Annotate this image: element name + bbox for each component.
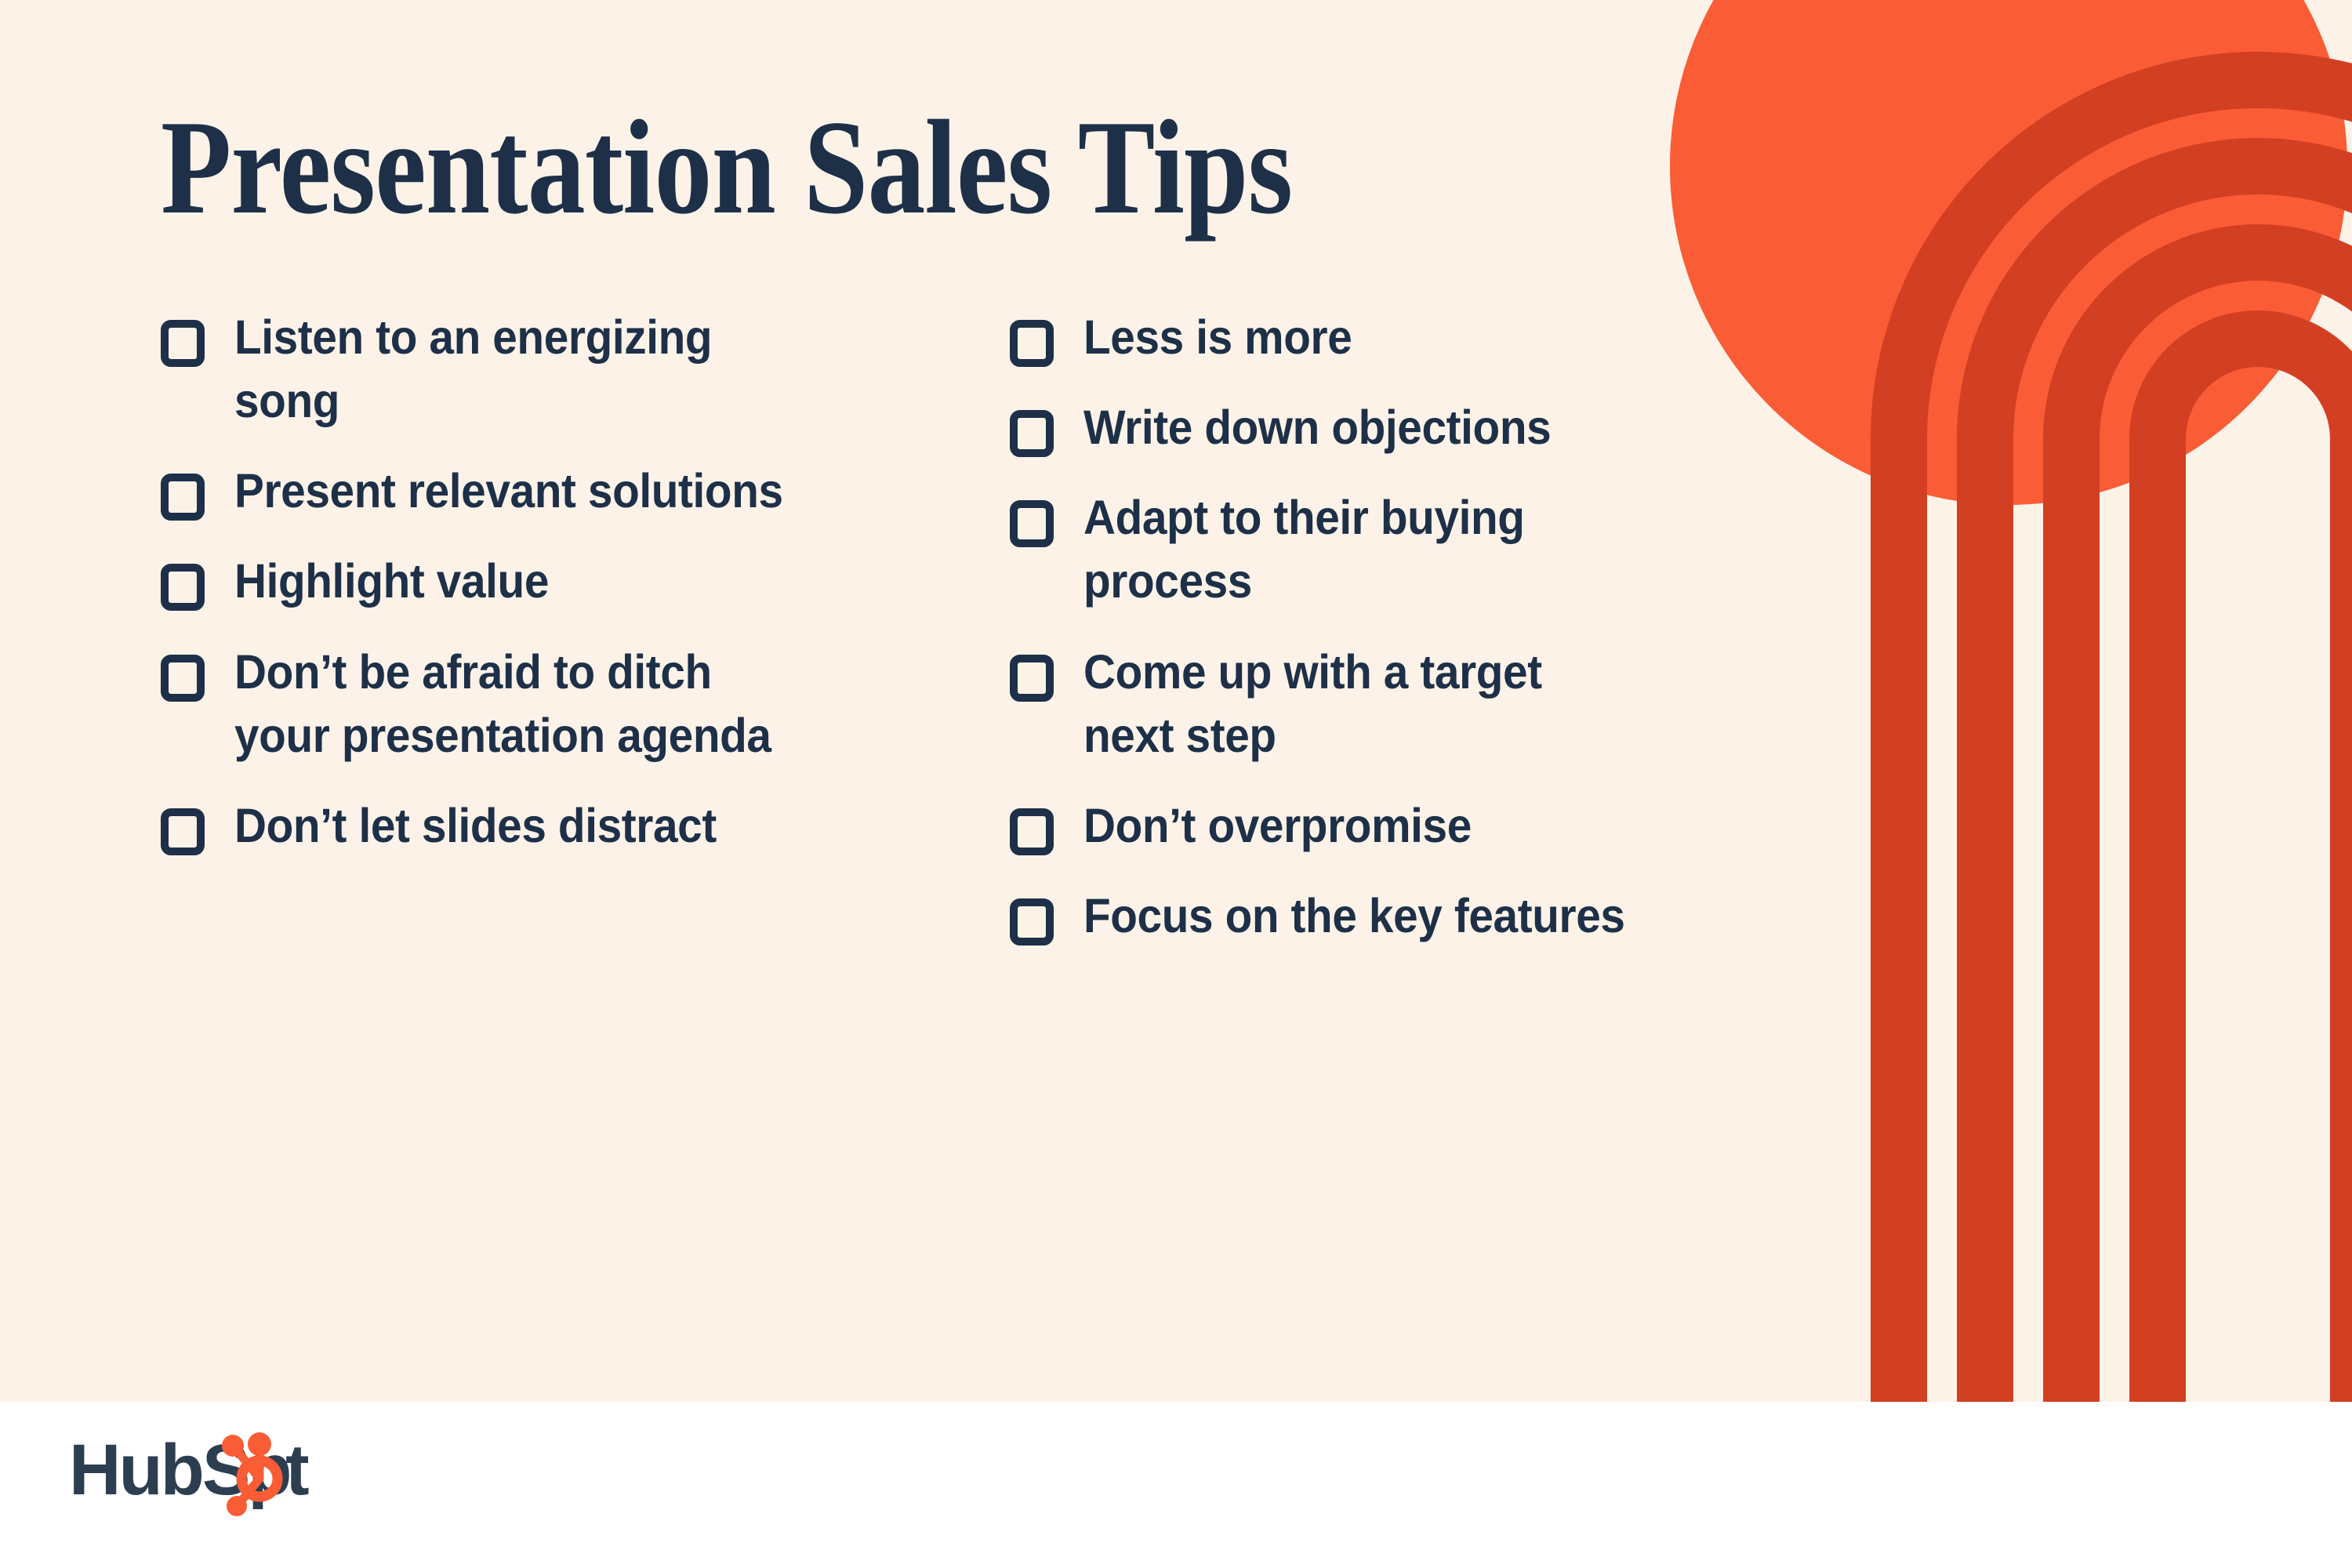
page-title: Presentation Sales Tips <box>161 100 1292 235</box>
arc-outer-4 <box>2129 310 2352 1402</box>
slide-canvas: Presentation Sales Tips Listen to an ene… <box>0 0 2352 1402</box>
checkbox-icon[interactable] <box>1010 898 1054 946</box>
checkbox-icon[interactable] <box>1010 808 1054 855</box>
checkbox-icon[interactable] <box>1010 410 1054 457</box>
list-item-label: Write down objections <box>1083 396 1551 459</box>
list-item[interactable]: Present relevant solutions <box>161 459 857 523</box>
orange-circle <box>1670 0 2347 505</box>
arc-group <box>1871 52 2352 1402</box>
list-item-label: Don’t overpromise <box>1083 794 1472 858</box>
list-item-label: Present relevant solutions <box>234 459 783 523</box>
list-item[interactable]: Listen to an energizing song <box>161 306 857 433</box>
arc-outer-2 <box>1957 138 2352 1402</box>
list-item-label: Adapt to their buying process <box>1083 486 1643 613</box>
list-item[interactable]: Come up with a target next step <box>1010 641 1686 768</box>
checkbox-icon[interactable] <box>1010 655 1054 702</box>
list-item-label: Less is more <box>1083 306 1352 369</box>
footer: HubSp t <box>0 1402 2352 1568</box>
checklist: Listen to an energizing song Present rel… <box>0 306 1686 975</box>
list-item-label: Listen to an energizing song <box>234 306 803 433</box>
checkbox-icon[interactable] <box>1010 320 1054 367</box>
list-item-label: Highlight value <box>234 550 549 613</box>
list-item[interactable]: Adapt to their buying process <box>1010 486 1686 613</box>
list-item[interactable]: Don’t be afraid to ditch your presentati… <box>161 641 857 768</box>
arc-outer-1 <box>1871 52 2352 1402</box>
infographic-slide: Presentation Sales Tips Listen to an ene… <box>0 0 2352 1568</box>
list-item[interactable]: Write down objections <box>1010 396 1686 459</box>
arc-outer-3 <box>2043 224 2352 1402</box>
list-item-label: Don’t let slides distract <box>234 794 717 858</box>
hubspot-wordmark-part-two: t <box>285 1430 309 1510</box>
list-item[interactable]: Less is more <box>1010 306 1686 369</box>
list-item[interactable]: Focus on the key features <box>1010 884 1686 948</box>
list-item-label: Focus on the key features <box>1083 884 1625 948</box>
checkbox-icon[interactable] <box>1010 500 1054 547</box>
list-item-label: Don’t be afraid to ditch your presentati… <box>234 641 803 768</box>
list-item-label: Come up with a target next step <box>1083 641 1643 768</box>
hubspot-logo[interactable]: HubSp t <box>69 1430 336 1516</box>
decorative-artwork <box>1568 0 2352 1402</box>
list-item[interactable]: Don’t overpromise <box>1010 794 1686 858</box>
